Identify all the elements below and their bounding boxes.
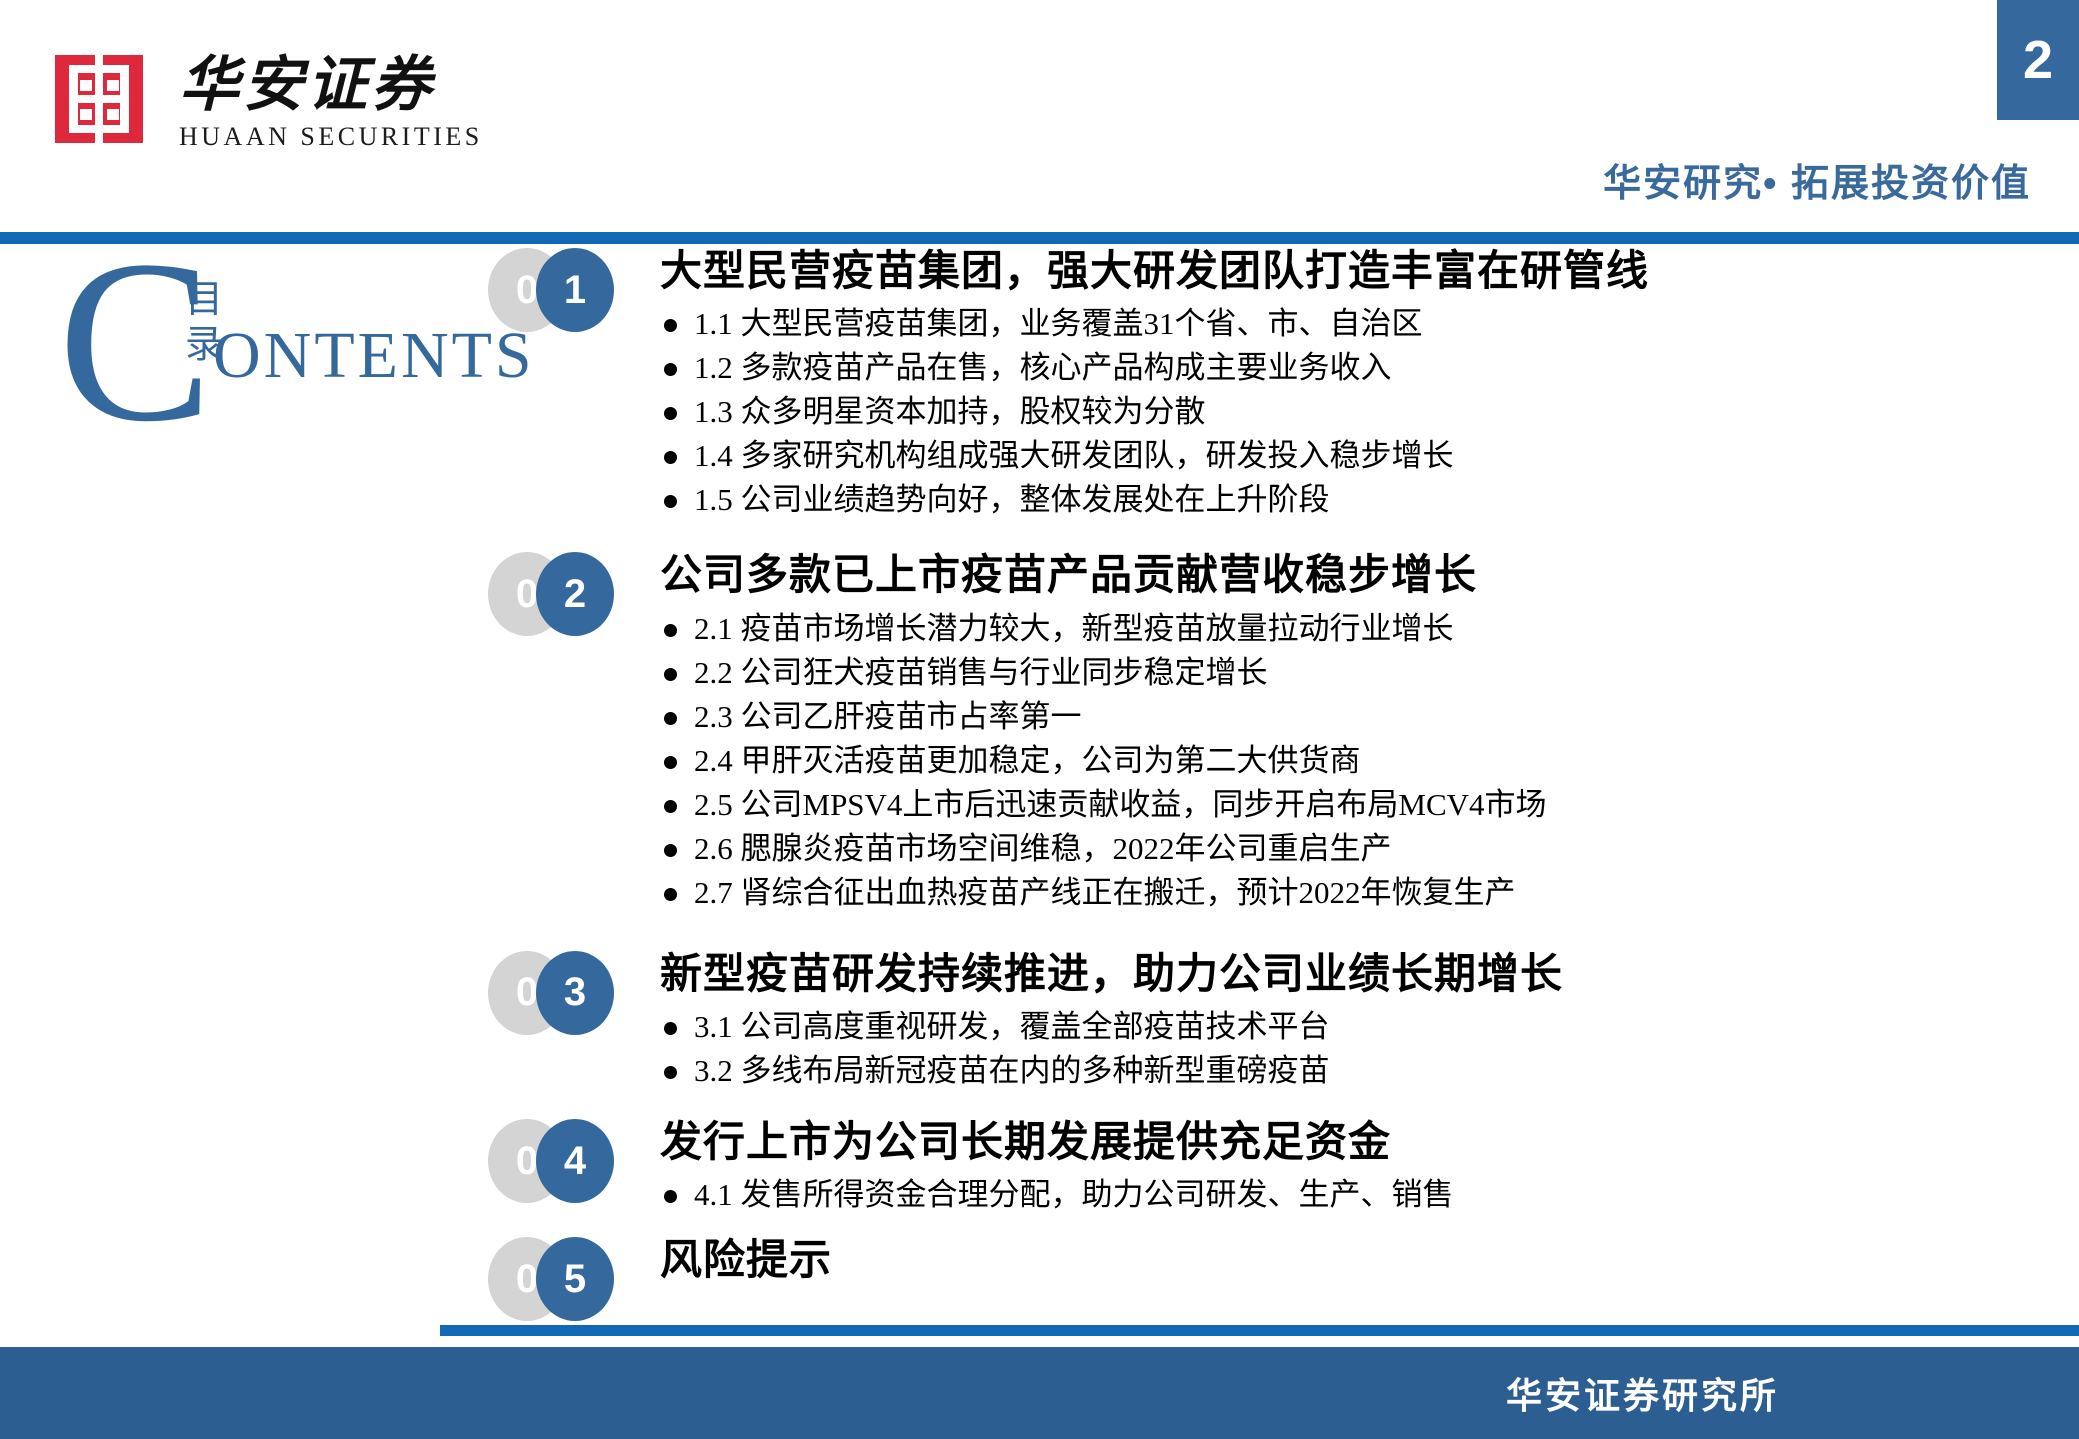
list-item[interactable]: 2.5 公司MPSV4上市后迅速贡献收益，同步开启布局MCV4市场: [660, 783, 2050, 827]
huaan-seal-icon: [55, 55, 143, 143]
section-title[interactable]: 风险提示: [660, 1237, 2050, 1285]
agenda-section-3[interactable]: 0 3 新型疫苗研发持续推进，助力公司业绩长期增长 3.1 公司高度重视研发，覆…: [660, 951, 2050, 1093]
list-item[interactable]: 1.2 多款疫苗产品在售，核心产品构成主要业务收入: [660, 346, 2050, 390]
section-badge-4: 0 4: [488, 1119, 638, 1203]
brand-name-en: HUAAN SECURITIES: [179, 122, 483, 152]
section-title[interactable]: 公司多款已上市疫苗产品贡献营收稳步增长: [660, 552, 2050, 600]
agenda-section-4[interactable]: 0 4 发行上市为公司长期发展提供充足资金 4.1 发售所得资金合理分配，助力公…: [660, 1119, 2050, 1217]
section-title[interactable]: 新型疫苗研发持续推进，助力公司业绩长期增长: [660, 951, 2050, 999]
brand-name-cn: 华安证券: [179, 55, 483, 116]
section-badge-1: 0 1: [488, 248, 638, 332]
footer-divider: [440, 1325, 2079, 1336]
list-item[interactable]: 2.7 肾综合征出血热疫苗产线正在搬迁，预计2022年恢复生产: [660, 871, 2050, 915]
section-badge-2: 0 2: [488, 552, 638, 636]
contents-word: ONTENTS: [213, 318, 535, 394]
list-item[interactable]: 3.1 公司高度重视研发，覆盖全部疫苗技术平台: [660, 1005, 2050, 1049]
section-badge-5: 0 5: [488, 1237, 638, 1321]
list-item[interactable]: 4.1 发售所得资金合理分配，助力公司研发、生产、销售: [660, 1173, 2050, 1217]
section-badge-number: 3: [536, 951, 614, 1035]
research-tagline: 华安研究• 拓展投资价值: [1603, 152, 2031, 207]
section-bullets: 2.1 疫苗市场增长潜力较大，新型疫苗放量拉动行业增长 2.2 公司狂犬疫苗销售…: [660, 607, 2050, 915]
list-item[interactable]: 2.4 甲肝灭活疫苗更加稳定，公司为第二大供货商: [660, 739, 2050, 783]
header-divider: [0, 232, 2079, 244]
list-item[interactable]: 3.2 多线布局新冠疫苗在内的多种新型重磅疫苗: [660, 1049, 2050, 1093]
section-bullets: 3.1 公司高度重视研发，覆盖全部疫苗技术平台 3.2 多线布局新冠疫苗在内的多…: [660, 1005, 2050, 1093]
section-badge-number: 4: [536, 1119, 614, 1203]
list-item[interactable]: 1.3 众多明星资本加持，股权较为分散: [660, 390, 2050, 434]
page-number-badge: 2: [1997, 0, 2079, 120]
footer-institute-name: 华安证券研究所: [1506, 1367, 1779, 1419]
list-item[interactable]: 2.2 公司狂犬疫苗销售与行业同步稳定增长: [660, 651, 2050, 695]
section-title[interactable]: 发行上市为公司长期发展提供充足资金: [660, 1119, 2050, 1167]
agenda-section-5[interactable]: 0 5 风险提示: [660, 1237, 2050, 1285]
agenda-section-2[interactable]: 0 2 公司多款已上市疫苗产品贡献营收稳步增长 2.1 疫苗市场增长潜力较大，新…: [660, 552, 2050, 914]
section-title[interactable]: 大型民营疫苗集团，强大研发团队打造丰富在研管线: [660, 248, 2050, 296]
section-badge-number: 2: [536, 552, 614, 636]
footer-band: 华安证券研究所: [0, 1347, 2079, 1439]
brand-logo: 华安证券 HUAAN SECURITIES: [55, 55, 483, 152]
list-item[interactable]: 2.3 公司乙肝疫苗市占率第一: [660, 695, 2050, 739]
agenda-list: 0 1 大型民营疫苗集团，强大研发团队打造丰富在研管线 1.1 大型民营疫苗集团…: [660, 248, 2050, 1286]
section-badge-number: 1: [536, 248, 614, 332]
list-item[interactable]: 2.1 疫苗市场增长潜力较大，新型疫苗放量拉动行业增长: [660, 607, 2050, 651]
section-bullets: 4.1 发售所得资金合理分配，助力公司研发、生产、销售: [660, 1173, 2050, 1217]
section-badge-number: 5: [536, 1237, 614, 1321]
contents-mark: C 目录 ONTENTS: [58, 246, 488, 416]
list-item[interactable]: 1.5 公司业绩趋势向好，整体发展处在上升阶段: [660, 478, 2050, 522]
agenda-section-1[interactable]: 0 1 大型民营疫苗集团，强大研发团队打造丰富在研管线 1.1 大型民营疫苗集团…: [660, 248, 2050, 522]
list-item[interactable]: 2.6 腮腺炎疫苗市场空间维稳，2022年公司重启生产: [660, 827, 2050, 871]
section-bullets: 1.1 大型民营疫苗集团，业务覆盖31个省、市、自治区 1.2 多款疫苗产品在售…: [660, 302, 2050, 522]
section-badge-3: 0 3: [488, 951, 638, 1035]
list-item[interactable]: 1.4 多家研究机构组成强大研发团队，研发投入稳步增长: [660, 434, 2050, 478]
list-item[interactable]: 1.1 大型民营疫苗集团，业务覆盖31个省、市、自治区: [660, 302, 2050, 346]
